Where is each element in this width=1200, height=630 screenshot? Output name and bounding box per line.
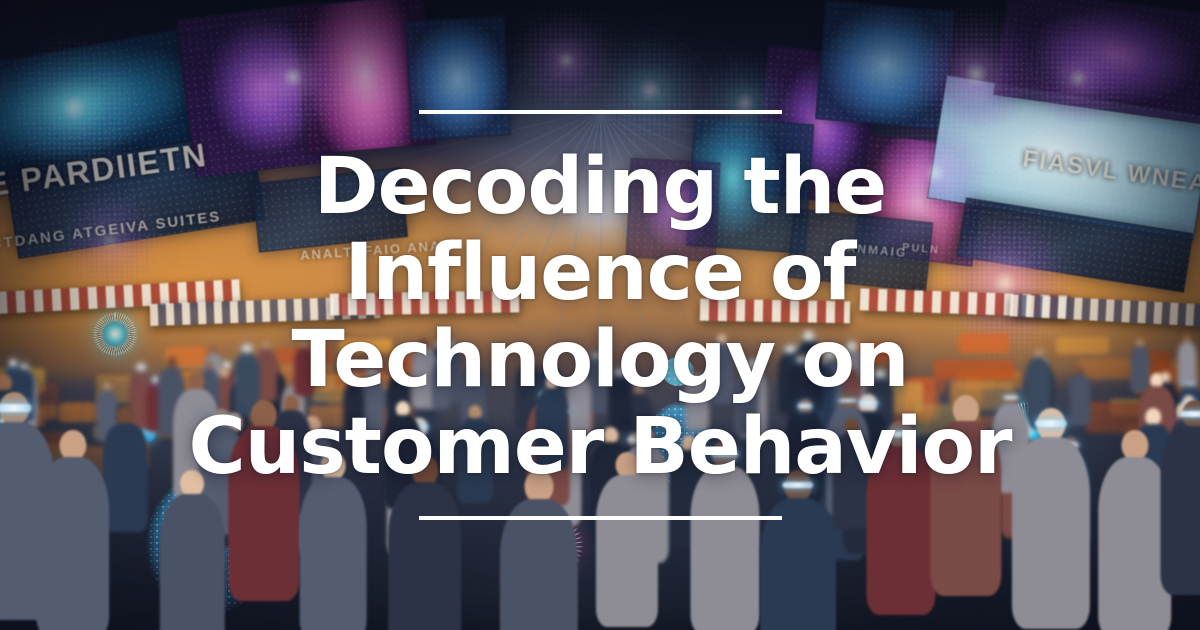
hero-banner: E PARDIIETNCTDANG ATGEIVA SUITESANALTEFA… [0, 0, 1200, 630]
divider-bottom [419, 516, 782, 520]
page-title-line-2: Influence of [188, 230, 1011, 317]
page-title: Decoding theInfluence ofTechnology onCus… [188, 144, 1011, 490]
page-title-line-3: Technology on [188, 317, 1011, 404]
title-overlay: Decoding theInfluence ofTechnology onCus… [0, 0, 1200, 630]
divider-top [419, 110, 782, 114]
page-title-line-4: Customer Behavior [188, 404, 1011, 491]
page-title-line-1: Decoding the [188, 144, 1011, 231]
